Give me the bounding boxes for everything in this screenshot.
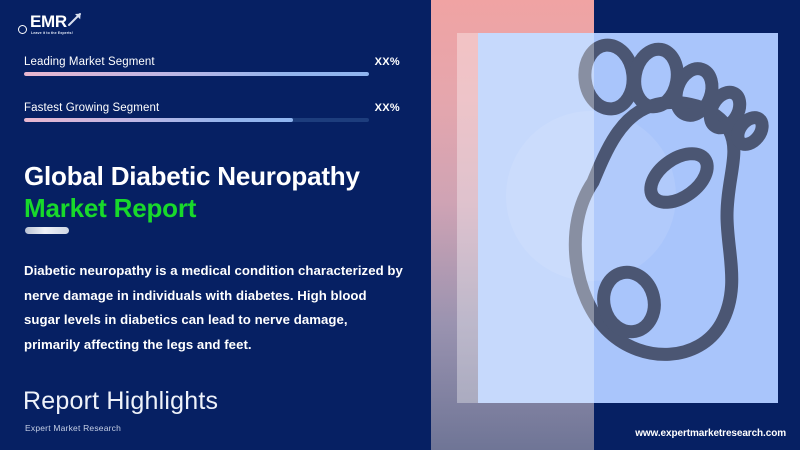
stat-row-leading-segment: Leading Market Segment XX% [24, 56, 400, 94]
stat-value: XX% [375, 102, 400, 114]
content-area: EMR Leave it to the Experts! Leading Mar… [0, 0, 431, 450]
section-heading: Report Highlights [23, 387, 218, 416]
logo-tagline: Leave it to the Experts! [31, 31, 73, 35]
description-text: Diabetic neuropathy is a medical conditi… [24, 259, 406, 357]
website-url[interactable]: www.expertmarketresearch.com [635, 428, 786, 439]
brand-name-label: Expert Market Research [25, 423, 121, 433]
white-overlay-panel [457, 33, 594, 403]
progress-fill [24, 72, 369, 76]
progress-track [24, 118, 369, 122]
title-divider [25, 227, 69, 234]
emr-logo[interactable]: EMR Leave it to the Experts! [18, 12, 90, 42]
stat-row-fastest-growing-segment: Fastest Growing Segment XX% [24, 102, 400, 140]
progress-fill [24, 118, 293, 122]
progress-track [24, 72, 369, 76]
graphic-panel [431, 0, 800, 450]
stat-value: XX% [375, 56, 400, 68]
title-line-2: Market Report [24, 192, 414, 224]
page-title: Global Diabetic Neuropathy Market Report [24, 160, 414, 224]
report-banner: EMR Leave it to the Experts! Leading Mar… [0, 0, 800, 450]
title-line-1: Global Diabetic Neuropathy [24, 161, 360, 191]
logo-text: EMR [30, 13, 67, 31]
stat-label: Leading Market Segment [24, 56, 155, 68]
stats-list: Leading Market Segment XX% Fastest Growi… [24, 56, 400, 140]
stat-label: Fastest Growing Segment [24, 102, 159, 114]
logo-circle-icon [18, 25, 27, 34]
growth-arrow-icon [68, 12, 82, 26]
